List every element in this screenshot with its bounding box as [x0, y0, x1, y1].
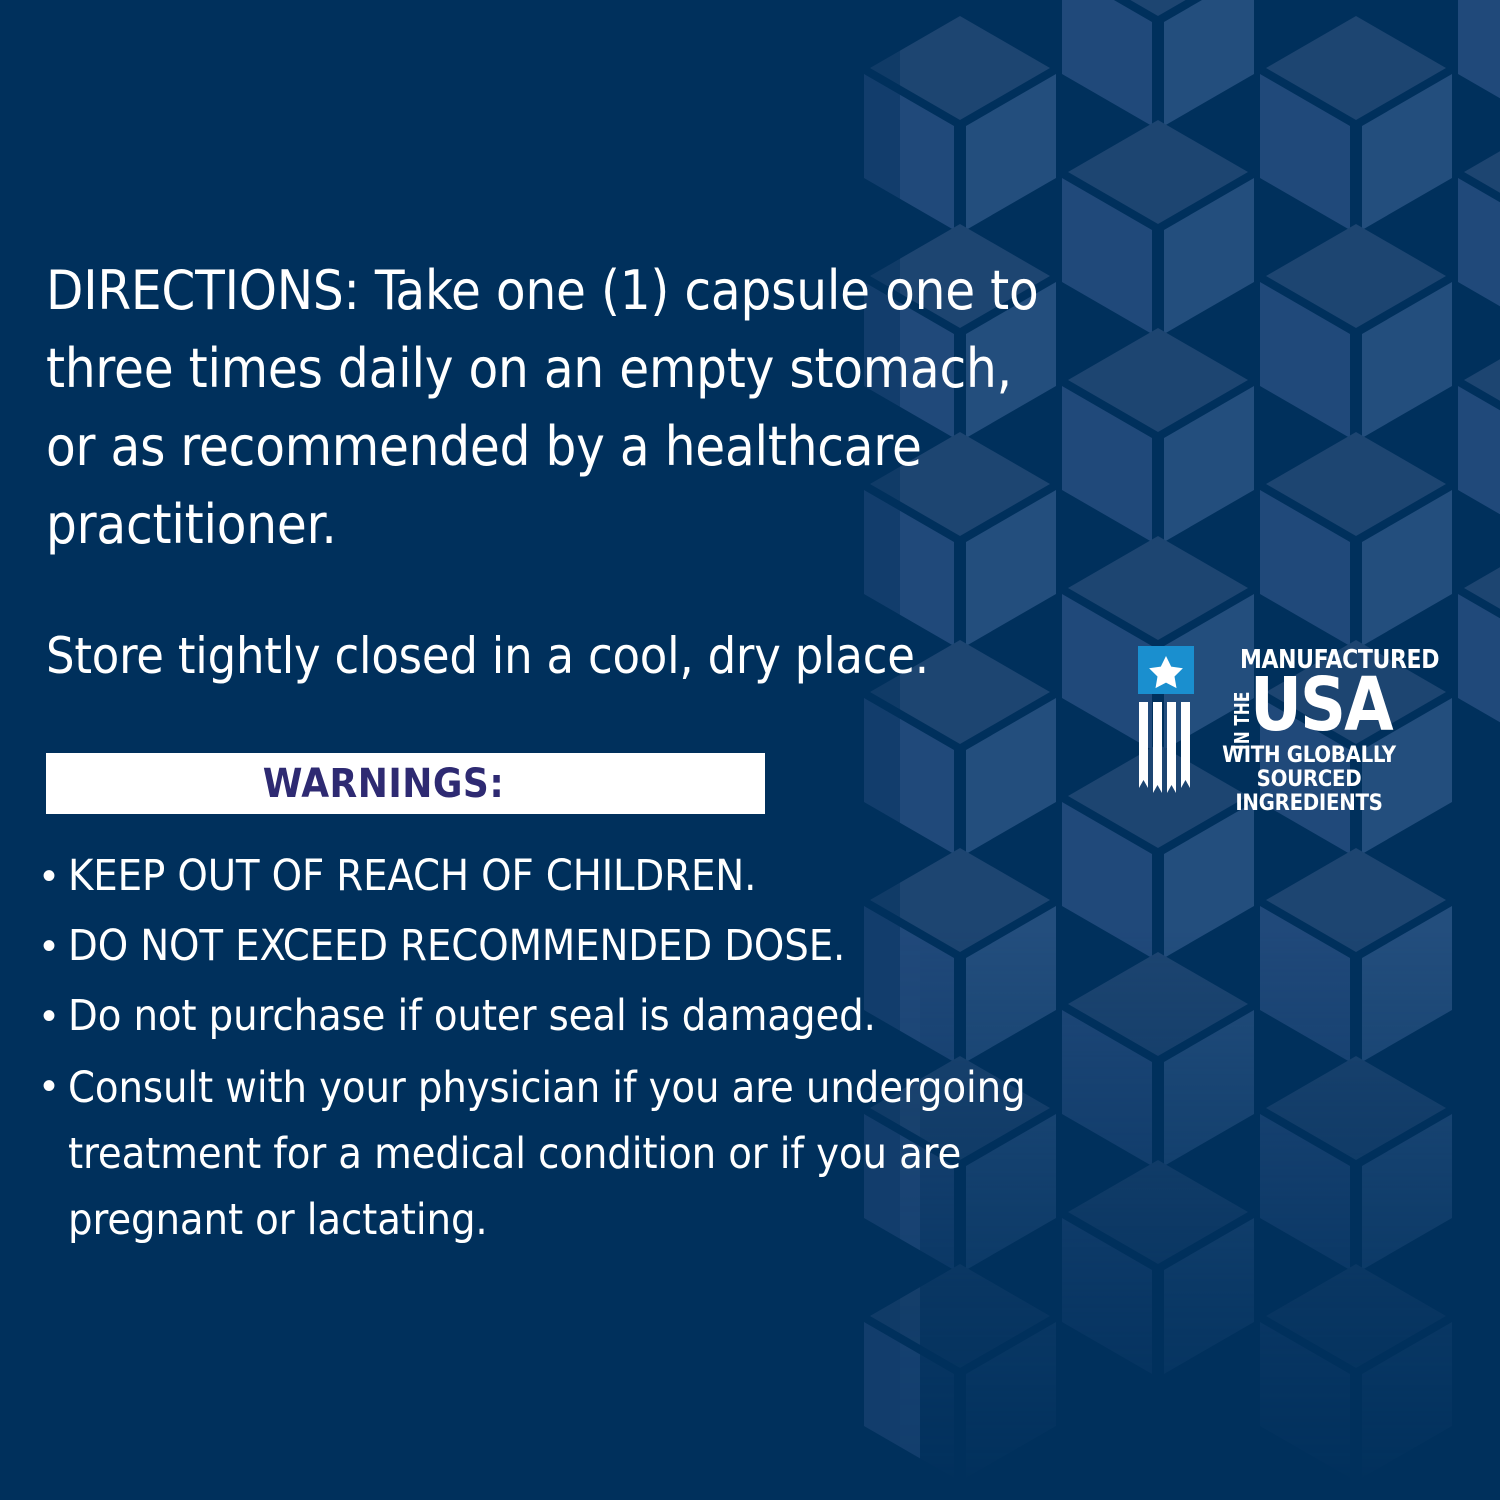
bullet-icon: • [42, 845, 68, 907]
manufactured-in-usa-badge: MANUFACTURED IN THE USA WITH GLOBALLY SO… [1138, 646, 1410, 806]
warning-text: Consult with your physician if you are u… [68, 1055, 1052, 1253]
list-item: • DO NOT EXCEED RECOMMENDED DOSE. [42, 915, 1052, 977]
supplement-label-panel: DIRECTIONS: Take one (1) capsule one to … [0, 0, 1500, 1500]
directions-text: DIRECTIONS: Take one (1) capsule one to … [46, 252, 1056, 564]
bullet-icon: • [42, 1055, 68, 1117]
bullet-icon: • [42, 915, 68, 977]
warning-text: KEEP OUT OF REACH OF CHILDREN. [68, 845, 1052, 907]
warning-text: DO NOT EXCEED RECOMMENDED DOSE. [68, 915, 1052, 977]
usa-badge-text: MANUFACTURED IN THE USA WITH GLOBALLY SO… [1190, 646, 1410, 804]
list-item: • Consult with your physician if you are… [42, 1055, 1052, 1253]
warnings-heading: WARNINGS: [263, 761, 504, 807]
warnings-list: • KEEP OUT OF REACH OF CHILDREN. • DO NO… [42, 845, 1052, 1261]
badge-tagline-line2: SOURCED INGREDIENTS [1208, 768, 1410, 816]
badge-usa-label: USA [1250, 668, 1392, 742]
list-item: • Do not purchase if outer seal is damag… [42, 985, 1052, 1047]
badge-tagline-line1: WITH GLOBALLY [1208, 744, 1410, 768]
warnings-header-bar: WARNINGS: [46, 753, 765, 814]
usa-flag-icon [1138, 646, 1194, 796]
warning-text: Do not purchase if outer seal is damaged… [68, 985, 1052, 1047]
list-item: • KEEP OUT OF REACH OF CHILDREN. [42, 845, 1052, 907]
badge-in-the-label: IN THE [1232, 691, 1252, 750]
badge-tagline: WITH GLOBALLY SOURCED INGREDIENTS [1208, 744, 1410, 816]
storage-text: Store tightly closed in a cool, dry plac… [46, 626, 1056, 686]
bullet-icon: • [42, 985, 68, 1047]
